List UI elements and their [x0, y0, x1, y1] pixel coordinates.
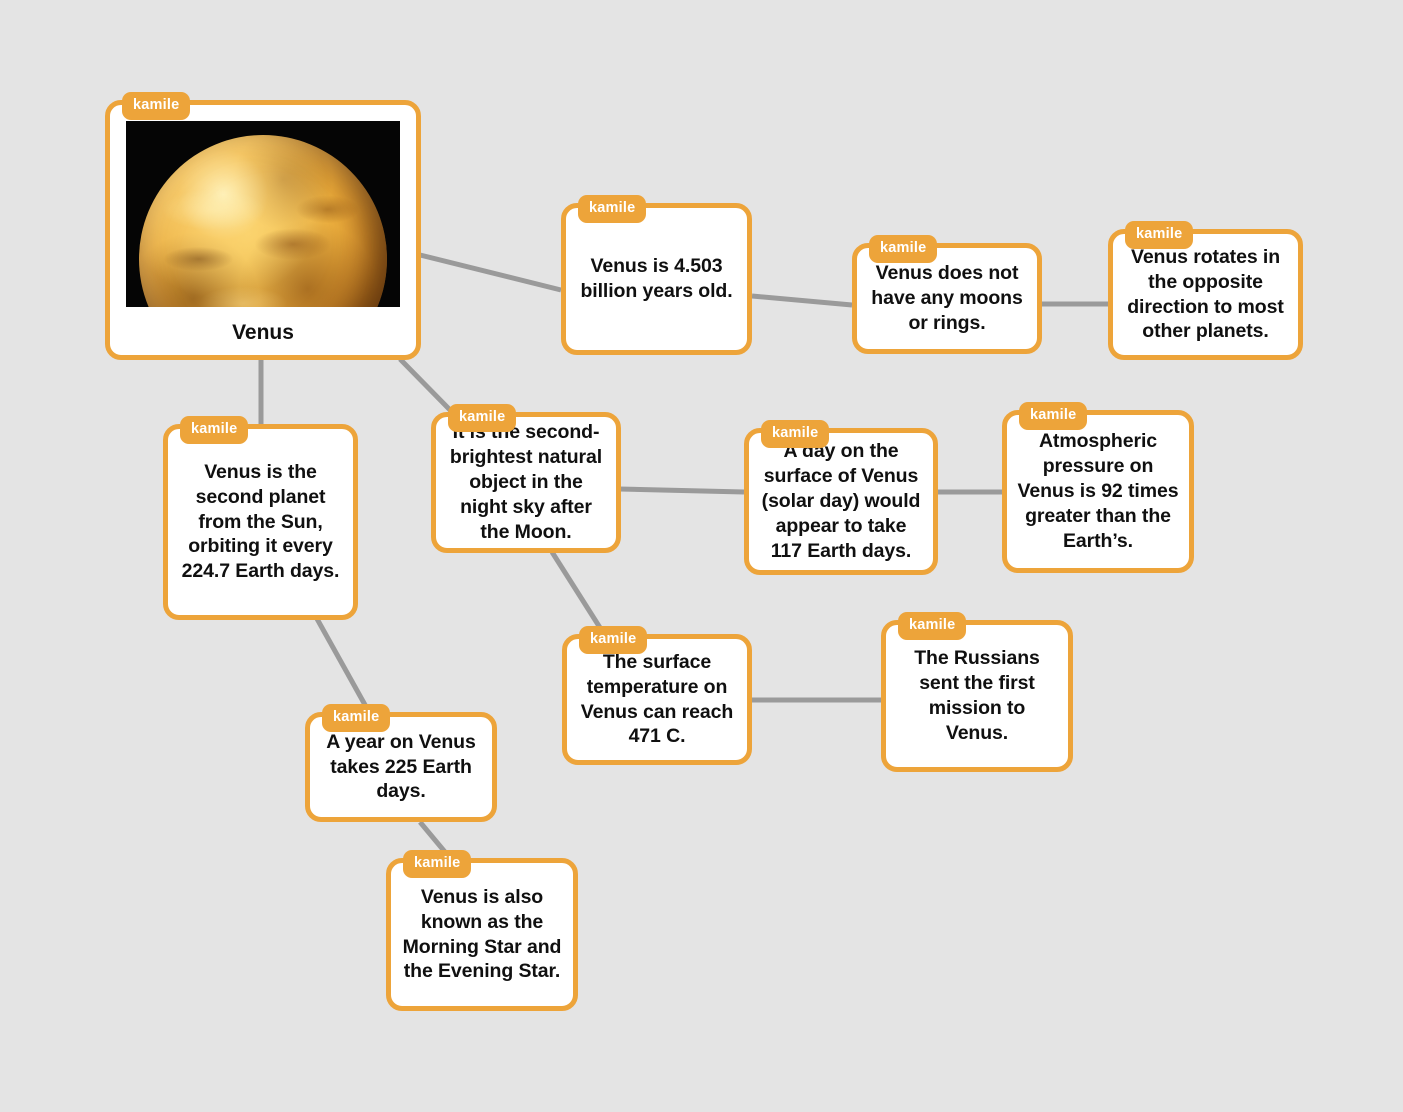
author-badge: kamile: [180, 416, 248, 444]
node-text: The surface temperature on Venus can rea…: [567, 644, 747, 756]
mindmap-node-temperature[interactable]: kamile The surface temperature on Venus …: [562, 634, 752, 765]
node-text: Venus is also known as the Morning Star …: [391, 879, 573, 991]
node-text: Venus rotates in the opposite direction …: [1113, 239, 1298, 351]
mindmap-node-solar-day[interactable]: kamile A day on the surface of Venus (so…: [744, 428, 938, 575]
mindmap-node-age[interactable]: kamile Venus is 4.503 billion years old.: [561, 203, 752, 355]
node-text: Venus is 4.503 billion years old.: [566, 248, 747, 310]
author-badge: kamile: [1019, 402, 1087, 430]
mindmap-canvas[interactable]: kamile Venus kamile Venus is 4.503 billi…: [0, 0, 1403, 1112]
mindmap-node-second-planet[interactable]: kamile Venus is the second planet from t…: [163, 424, 358, 620]
node-text: Venus does not have any moons or rings.: [857, 255, 1037, 342]
connector-brightness-to-temp: [552, 552, 604, 634]
mindmap-node-moons[interactable]: kamile Venus does not have any moons or …: [852, 243, 1042, 354]
mindmap-node-venus-root[interactable]: kamile Venus: [105, 100, 421, 360]
connector-root-to-brightness: [400, 359, 452, 412]
author-badge: kamile: [761, 420, 829, 448]
author-badge: kamile: [122, 92, 190, 120]
author-badge: kamile: [869, 235, 937, 263]
node-text: A year on Venus takes 225 Earth days.: [310, 724, 492, 811]
node-text: Venus is the second planet from the Sun,…: [168, 454, 353, 591]
root-node-caption: Venus: [232, 321, 294, 345]
author-badge: kamile: [898, 612, 966, 640]
mindmap-node-morning-star[interactable]: kamile Venus is also known as the Mornin…: [386, 858, 578, 1011]
author-badge: kamile: [579, 626, 647, 654]
mindmap-node-pressure[interactable]: kamile Atmospheric pressure on Venus is …: [1002, 410, 1194, 573]
connector-root-to-age: [420, 255, 561, 290]
connector-secondplanet-to-year: [311, 608, 369, 712]
author-badge: kamile: [578, 195, 646, 223]
author-badge: kamile: [448, 404, 516, 432]
node-text: A day on the surface of Venus (solar day…: [749, 433, 933, 570]
venus-planet-photo: [126, 121, 400, 307]
mindmap-node-year-length[interactable]: kamile A year on Venus takes 225 Earth d…: [305, 712, 497, 822]
node-text: The Russians sent the first mission to V…: [886, 640, 1068, 752]
node-text: It is the second-brightest natural objec…: [436, 414, 616, 551]
connector-age-to-moons: [752, 296, 852, 305]
mindmap-node-rotation[interactable]: kamile Venus rotates in the opposite dir…: [1108, 229, 1303, 360]
mindmap-node-russians[interactable]: kamile The Russians sent the first missi…: [881, 620, 1073, 772]
author-badge: kamile: [1125, 221, 1193, 249]
author-badge: kamile: [322, 704, 390, 732]
node-text: Atmospheric pressure on Venus is 92 time…: [1007, 423, 1189, 560]
mindmap-node-brightness[interactable]: kamile It is the second-brightest natura…: [431, 412, 621, 553]
author-badge: kamile: [403, 850, 471, 878]
connector-brightness-to-solarday: [619, 489, 744, 492]
